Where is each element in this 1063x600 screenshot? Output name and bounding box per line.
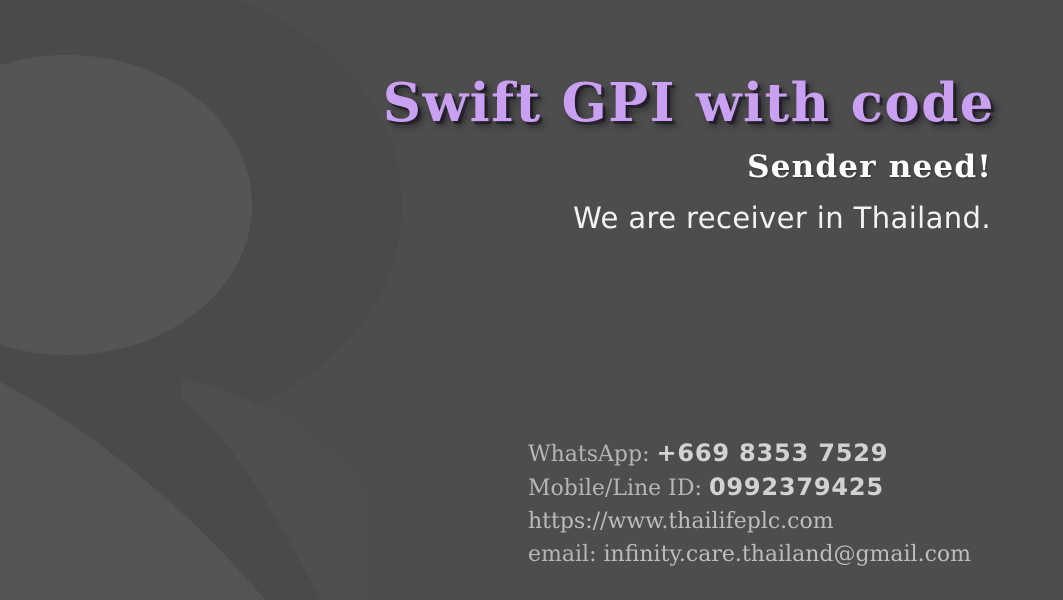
contact-value-mobile[interactable]: 0992379425 [709, 473, 884, 501]
contact-line-website: https://www.thailifeplc.com [528, 505, 971, 538]
contact-line-mobile: Mobile/Line ID: 0992379425 [528, 471, 971, 505]
contact-label-mobile: Mobile/Line ID: [528, 476, 702, 501]
contact-label-email: email: [528, 542, 596, 567]
website-link[interactable]: https://www.thailifeplc.com [528, 509, 834, 534]
page-title: Swift GPI with code [0, 0, 995, 132]
contact-value-whatsapp[interactable]: +669 8353 7529 [657, 439, 889, 467]
contact-line-whatsapp: WhatsApp: +669 8353 7529 [528, 437, 971, 471]
contact-label-whatsapp: WhatsApp: [528, 442, 650, 467]
contact-block: WhatsApp: +669 8353 7529 Mobile/Line ID:… [528, 437, 971, 571]
slide-canvas: Swift GPI with code Sender need! We are … [0, 0, 1063, 600]
headline-group: Swift GPI with code Sender need! We are … [0, 0, 1063, 235]
contact-value-email[interactable]: infinity.care.thailand@gmail.com [603, 542, 971, 567]
tagline: We are receiver in Thailand. [0, 185, 995, 235]
subtitle: Sender need! [0, 132, 995, 185]
contact-line-email: email: infinity.care.thailand@gmail.com [528, 538, 971, 571]
